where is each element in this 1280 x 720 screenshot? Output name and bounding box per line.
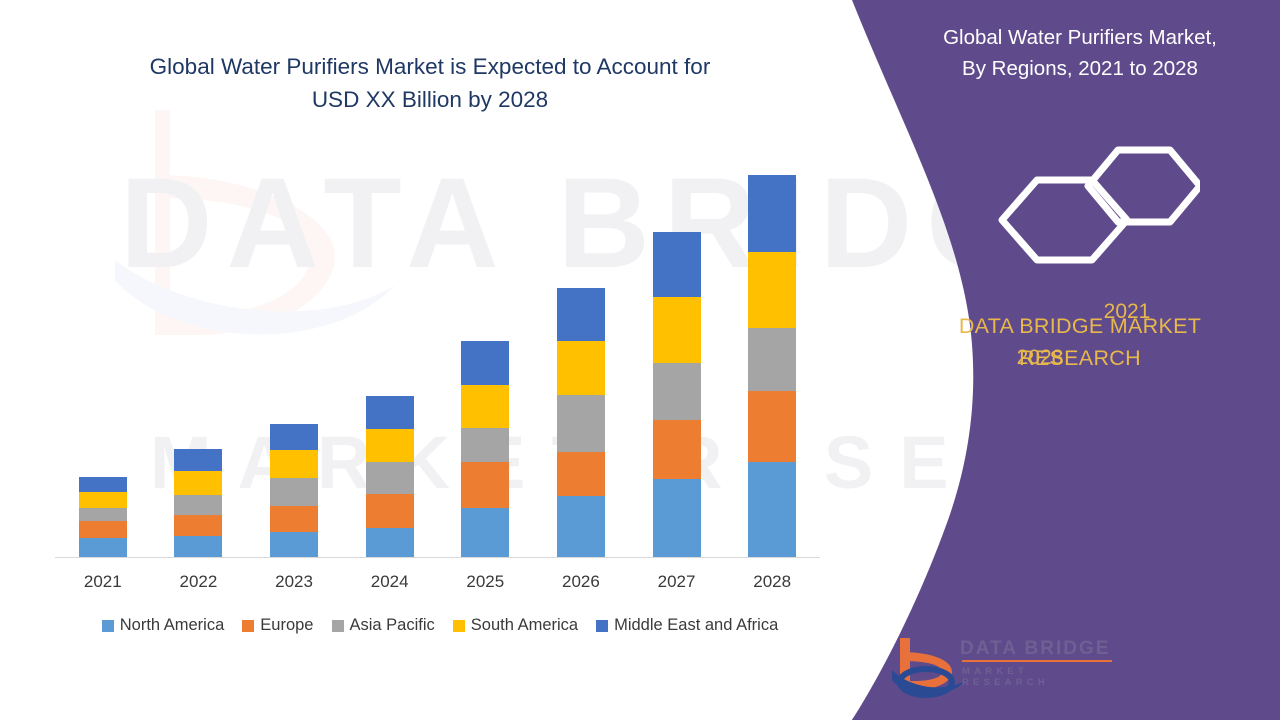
bar-segment bbox=[174, 515, 222, 536]
bar-segment bbox=[653, 479, 701, 558]
x-axis-label: 2027 bbox=[629, 572, 725, 592]
chart-title-line-2: USD XX Billion by 2028 bbox=[60, 83, 800, 116]
bar-segment bbox=[366, 429, 414, 462]
slide-canvas: DATA BRIDGE MARKET RESEARCH Global Water… bbox=[0, 0, 1280, 720]
legend-label: Asia Pacific bbox=[350, 616, 435, 635]
legend-item[interactable]: Asia Pacific bbox=[332, 616, 435, 635]
chart-title: Global Water Purifiers Market is Expecte… bbox=[60, 50, 800, 116]
bar-segment bbox=[270, 532, 318, 558]
brand-line-1: DATA BRIDGE MARKET bbox=[880, 310, 1280, 342]
legend-item[interactable]: Middle East and Africa bbox=[596, 616, 778, 635]
bar-2025 bbox=[461, 341, 509, 558]
bar-segment bbox=[270, 478, 318, 506]
chart-legend: North AmericaEuropeAsia PacificSouth Ame… bbox=[55, 616, 825, 635]
x-axis-line bbox=[55, 557, 820, 558]
bar-segment bbox=[461, 385, 509, 428]
hexagon-outlines-icon bbox=[980, 128, 1200, 298]
bar-segment bbox=[748, 175, 796, 252]
bar-segment bbox=[461, 508, 509, 558]
bar-2027 bbox=[653, 232, 701, 558]
bar-segment bbox=[557, 452, 605, 497]
bar-segment bbox=[461, 341, 509, 385]
x-axis-label: 2023 bbox=[246, 572, 342, 592]
bar-2028 bbox=[748, 175, 796, 558]
legend-swatch-icon bbox=[453, 620, 465, 632]
legend-swatch-icon bbox=[242, 620, 254, 632]
chart-title-line-1: Global Water Purifiers Market is Expecte… bbox=[60, 50, 800, 83]
bar-2022 bbox=[174, 449, 222, 558]
x-axis-label: 2028 bbox=[724, 572, 820, 592]
x-axis-label: 2021 bbox=[55, 572, 151, 592]
panel-title: Global Water Purifiers Market, By Region… bbox=[880, 22, 1280, 84]
bar-segment bbox=[366, 528, 414, 558]
bar-segment bbox=[79, 508, 127, 521]
bar-segment bbox=[748, 462, 796, 558]
bar-segment bbox=[270, 506, 318, 533]
bar-segment bbox=[461, 428, 509, 462]
logo-main-text: DATA BRIDGE bbox=[960, 638, 1110, 660]
hexagon-badges: 2021 2028 bbox=[980, 128, 1200, 298]
bar-segment bbox=[748, 252, 796, 328]
bar-segment bbox=[270, 450, 318, 478]
bar-segment bbox=[79, 477, 127, 491]
bar-segment bbox=[653, 420, 701, 480]
bar-segment bbox=[174, 449, 222, 471]
bar-segment bbox=[366, 494, 414, 528]
bar-segment bbox=[366, 396, 414, 429]
bar-segment bbox=[174, 536, 222, 558]
bar-2024 bbox=[366, 396, 414, 558]
legend-swatch-icon bbox=[102, 620, 114, 632]
x-axis-label: 2022 bbox=[150, 572, 246, 592]
bar-segment bbox=[174, 495, 222, 515]
x-axis-labels: 20212022202320242025202620272028 bbox=[55, 572, 820, 602]
panel-title-line-1: Global Water Purifiers Market, bbox=[880, 22, 1280, 53]
bar-2023 bbox=[270, 424, 318, 558]
bar-segment bbox=[653, 297, 701, 364]
company-logo: DATA BRIDGE MARKET RESEARCH bbox=[890, 630, 1120, 700]
legend-label: Middle East and Africa bbox=[614, 616, 778, 635]
bar-segment bbox=[79, 521, 127, 537]
bar-2026 bbox=[557, 288, 605, 558]
bar-segment bbox=[270, 424, 318, 451]
bar-segment bbox=[748, 328, 796, 391]
bar-segment bbox=[461, 462, 509, 508]
bar-segment bbox=[557, 341, 605, 395]
legend-item[interactable]: North America bbox=[102, 616, 225, 635]
bar-segment bbox=[653, 232, 701, 297]
legend-swatch-icon bbox=[596, 620, 608, 632]
chart-region: Global Water Purifiers Market is Expecte… bbox=[0, 0, 860, 720]
bar-segment bbox=[557, 496, 605, 558]
bar-segment bbox=[653, 363, 701, 419]
bar-plot-area bbox=[55, 150, 820, 558]
bar-2021 bbox=[79, 477, 127, 558]
x-axis-label: 2026 bbox=[533, 572, 629, 592]
panel-content: Global Water Purifiers Market, By Region… bbox=[880, 0, 1280, 720]
bar-segment bbox=[748, 391, 796, 462]
panel-title-line-2: By Regions, 2021 to 2028 bbox=[880, 53, 1280, 84]
logo-sub-text: MARKET RESEARCH bbox=[962, 666, 1120, 688]
legend-item[interactable]: South America bbox=[453, 616, 578, 635]
bar-segment bbox=[174, 471, 222, 495]
bar-segment bbox=[557, 395, 605, 451]
bar-segment bbox=[557, 288, 605, 341]
hex-2028-outline bbox=[1002, 180, 1127, 260]
brand-name: DATA BRIDGE MARKET RESEARCH bbox=[880, 310, 1280, 374]
legend-label: Europe bbox=[260, 616, 313, 635]
bar-segment bbox=[79, 538, 127, 558]
x-axis-label: 2025 bbox=[437, 572, 533, 592]
legend-label: North America bbox=[120, 616, 225, 635]
x-axis-label: 2024 bbox=[342, 572, 438, 592]
legend-item[interactable]: Europe bbox=[242, 616, 313, 635]
hex-2021-outline bbox=[1088, 150, 1200, 222]
brand-line-2: RESEARCH bbox=[880, 342, 1280, 374]
bar-segment bbox=[79, 492, 127, 508]
legend-swatch-icon bbox=[332, 620, 344, 632]
bar-segment bbox=[366, 462, 414, 495]
legend-label: South America bbox=[471, 616, 578, 635]
